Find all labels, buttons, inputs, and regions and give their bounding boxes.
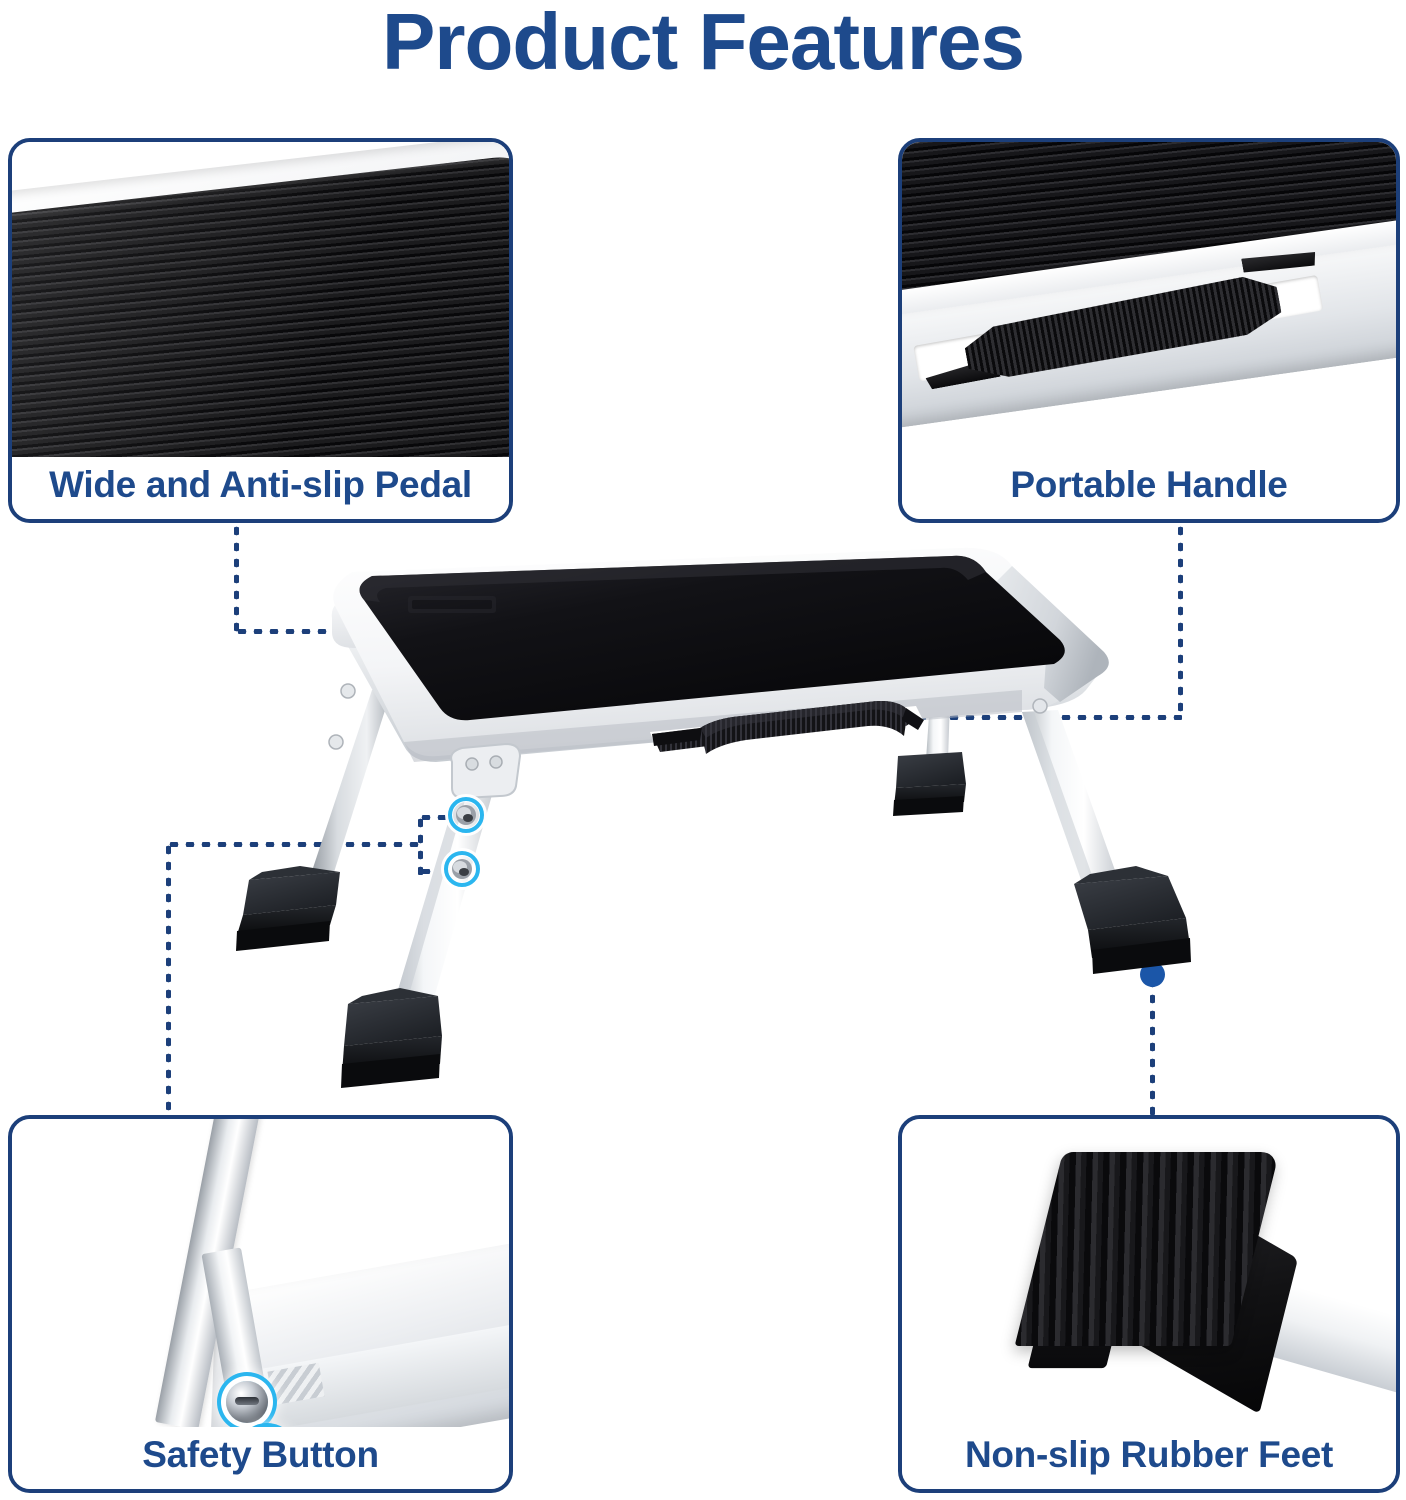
page-title: Product Features <box>0 2 1406 82</box>
rear-left-leg <box>236 688 392 951</box>
leader-line-safety-vertical <box>166 842 171 1117</box>
feature-photo-safety <box>12 1119 509 1427</box>
feature-label-pedal: Wide and Anti-slip Pedal <box>12 457 509 519</box>
white-frame <box>332 548 1109 762</box>
callout-dot-pedal <box>464 620 489 645</box>
pedal-closeup-image <box>12 142 509 457</box>
product-features-infographic: Product Features <box>0 0 1406 1500</box>
handle-grip-right-tab <box>1241 245 1317 278</box>
callout-dot-handle <box>814 706 839 731</box>
leader-line-pedal-vertical <box>234 523 239 633</box>
front-left-leg <box>341 744 520 1088</box>
callout-dot-feet <box>1140 962 1165 987</box>
leader-line-handle-vertical <box>1178 523 1183 719</box>
rear-left-hinge-screws <box>329 684 355 749</box>
feature-photo-pedal <box>12 142 509 457</box>
feature-panel-pedal: Wide and Anti-slip Pedal <box>8 138 513 523</box>
leader-line-pedal-horizontal <box>234 629 474 634</box>
leader-line-feet-vertical <box>1150 975 1155 1117</box>
feature-label-handle: Portable Handle <box>902 457 1396 519</box>
handle-closeup-image <box>902 142 1396 457</box>
safety-button-upper <box>226 1381 268 1423</box>
brand-emboss <box>408 596 496 613</box>
feature-photo-handle <box>902 142 1396 457</box>
leader-line-safety-lower <box>418 869 470 874</box>
rubber-foot-closeup-image <box>902 1119 1396 1427</box>
leader-line-safety-upper <box>418 815 476 820</box>
leader-line-handle-horizontal <box>834 715 1182 720</box>
feature-label-feet: Non-slip Rubber Feet <box>902 1427 1396 1489</box>
front-right-leg <box>1022 699 1191 974</box>
feature-panel-feet: Non-slip Rubber Feet <box>898 1115 1400 1493</box>
leader-line-safety-horizontal <box>166 842 424 847</box>
safety-closeup-image <box>12 1119 509 1427</box>
feature-label-safety: Safety Button <box>12 1427 509 1489</box>
feature-photo-feet <box>902 1119 1396 1427</box>
portable-handle <box>650 701 924 754</box>
feature-panel-safety: Safety Button <box>8 1115 513 1493</box>
feature-panel-handle: Portable Handle <box>898 138 1400 523</box>
